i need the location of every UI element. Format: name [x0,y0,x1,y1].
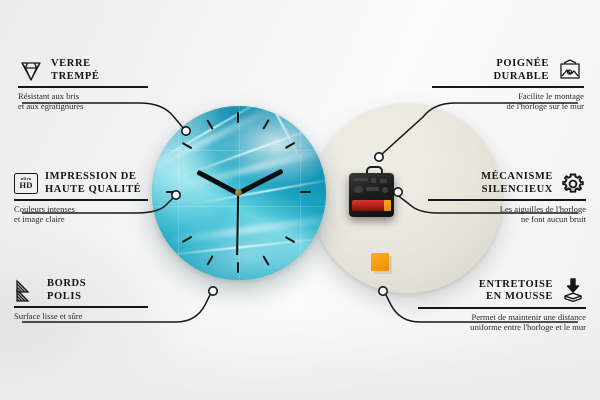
callout-desc-line1: Facilite le montage [432,91,584,102]
callout-mecanisme-silencieux: MÉCANISME SILENCIEUX Les aiguilles de l'… [428,171,586,225]
ultra-hd-badge-icon: ultra HD [14,173,38,194]
callout-desc-line1: Les aiguilles de l'horloge [428,204,586,215]
callout-title-line2: POLIS [47,291,86,304]
callout-title-line1: VERRE [51,58,100,71]
callout-desc-line2: et aux égratignures [18,101,168,112]
callout-rule [18,86,148,88]
callout-bords-polis: BORDS POLIS Surface lisse et sûre [14,278,174,321]
leader-endpoint [394,188,402,196]
callout-title-line1: POIGNÉE [493,58,549,71]
diamond-icon [18,59,44,83]
callout-desc-line1: Résistant aux bris [18,91,168,102]
callout-desc-line2: de l'horloge sur le mur [432,101,584,112]
callout-desc-line1: Permet de maintenir une distance [418,312,586,323]
callout-title-line1: MÉCANISME [481,171,553,184]
gear-icon [560,172,586,196]
callout-impression-haute-qualite: ultra HD IMPRESSION DE HAUTE QUALITÉ Cou… [14,171,174,225]
callout-title-line1: BORDS [47,278,86,291]
callout-verre-trempe: VERRE TREMPÉ Résistant aux bris et aux é… [18,58,168,112]
callout-desc-line2: ne font aucun bruit [428,214,586,225]
callout-rule [14,306,148,308]
leader-endpoint [209,287,217,295]
callout-rule [428,199,586,201]
callout-entretoise-en-mousse: ENTRETOISE EN MOUSSE Permet de maintenir… [418,278,586,333]
callout-rule [432,86,584,88]
callout-title-line1: ENTRETOISE [479,279,553,292]
callout-rule [418,307,586,309]
leader-endpoint [375,153,383,161]
leader-endpoint [182,127,190,135]
polished-edges-icon [14,279,40,303]
callout-desc-line2: et image claire [14,214,174,225]
hanging-picture-icon [556,59,584,83]
callout-desc-line1: Couleurs intenses [14,204,174,215]
callout-desc-line1: Surface lisse et sûre [14,311,174,322]
callout-poignee-durable: POIGNÉE DURABLE Facilite le montage de l… [432,58,584,112]
callout-title-line2: DURABLE [493,71,549,84]
callout-title-line2: TREMPÉ [51,71,100,84]
clock-center-hub [235,189,242,196]
callout-title-line2: SILENCIEUX [481,184,553,197]
foam-spacer-arrow-icon [560,278,586,304]
infographic-canvas: VERRE TREMPÉ Résistant aux bris et aux é… [0,0,600,400]
callout-title-line2: HAUTE QUALITÉ [45,184,141,197]
callout-title-line2: EN MOUSSE [479,291,553,304]
callout-rule [14,199,148,201]
callout-title-line1: IMPRESSION DE [45,171,141,184]
callout-desc-line2: uniforme entre l'horloge et le mur [418,322,586,333]
badge-text-hd: HD [19,181,32,190]
leader-endpoint [379,287,387,295]
